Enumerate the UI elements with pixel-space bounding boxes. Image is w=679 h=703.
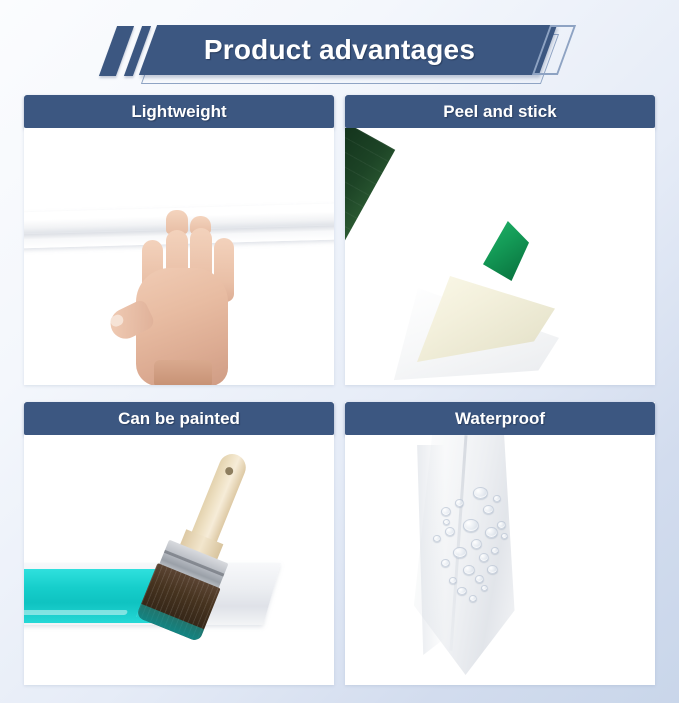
hand-shape bbox=[110, 194, 246, 384]
water-droplet-shape bbox=[473, 487, 488, 499]
card-title-can-be-painted: Can be painted bbox=[24, 402, 334, 435]
water-droplet-shape bbox=[463, 519, 479, 532]
paintbrush-teal-paint-photo bbox=[24, 435, 334, 685]
water-droplet-shape bbox=[469, 595, 477, 602]
hand-holding-molding-photo bbox=[24, 128, 334, 385]
water-droplet-shape bbox=[479, 553, 489, 562]
product-advantages-infographic: Product advantages Lightweight Peel and … bbox=[0, 0, 679, 703]
advantage-card-waterproof: Waterproof bbox=[345, 402, 655, 685]
water-droplet-shape bbox=[457, 587, 467, 595]
advantage-card-lightweight: Lightweight bbox=[24, 95, 334, 385]
water-droplet-shape bbox=[471, 539, 482, 549]
water-droplet-shape bbox=[475, 575, 484, 583]
water-droplet-shape bbox=[481, 585, 488, 591]
advantage-card-can-be-painted: Can be painted bbox=[24, 402, 334, 685]
card-title-peel-and-stick: Peel and stick bbox=[345, 95, 655, 128]
water-droplet-shape bbox=[455, 499, 464, 507]
water-droplet-shape bbox=[445, 527, 455, 536]
banner-parallelogram bbox=[139, 25, 557, 75]
water-droplet-shape bbox=[433, 535, 441, 542]
water-droplet-shape bbox=[441, 507, 451, 516]
header-banner: Product advantages bbox=[0, 0, 679, 92]
green-protective-film-shape bbox=[345, 128, 395, 333]
water-droplet-shape bbox=[449, 577, 457, 584]
water-droplet-shape bbox=[487, 565, 498, 574]
water-droplet-shape bbox=[491, 547, 499, 554]
water-droplet-shape bbox=[501, 533, 508, 539]
peel-backing-film-photo bbox=[345, 128, 655, 385]
water-droplet-shape bbox=[497, 521, 506, 529]
water-droplet-shape bbox=[453, 547, 467, 558]
water-droplet-shape bbox=[485, 527, 498, 538]
peeled-film-corner-shape bbox=[483, 221, 529, 281]
water-droplet-shape bbox=[493, 495, 501, 502]
water-droplets-molding-photo bbox=[345, 435, 655, 685]
water-droplet-shape bbox=[441, 559, 450, 567]
advantage-card-peel-and-stick: Peel and stick bbox=[345, 95, 655, 385]
water-droplet-shape bbox=[463, 565, 475, 575]
card-title-lightweight: Lightweight bbox=[24, 95, 334, 128]
water-droplet-shape bbox=[483, 505, 494, 514]
water-droplet-shape bbox=[443, 519, 450, 525]
card-title-waterproof: Waterproof bbox=[345, 402, 655, 435]
